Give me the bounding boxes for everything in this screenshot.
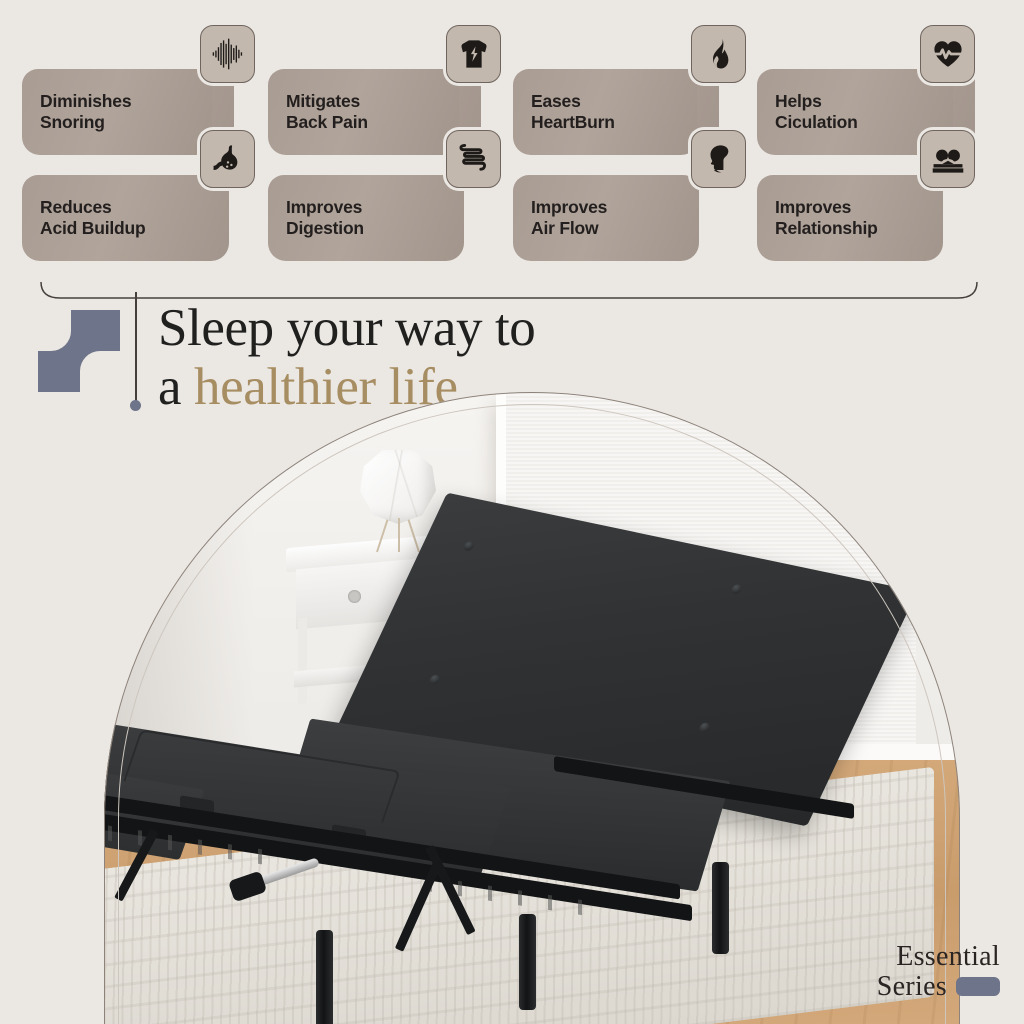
brand-line-2: Series — [877, 972, 947, 1002]
brand-lockup: Essential Series — [877, 942, 1000, 1002]
panel-bolt — [428, 674, 441, 685]
benefit-label: Helps Ciculation — [757, 91, 858, 134]
product-photo-arch — [104, 392, 960, 1024]
brand-line-2-row: Series — [877, 972, 1000, 1002]
benefits-grid: Diminishes Snoring — [0, 0, 1024, 260]
poster-canvas: Diminishes Snoring — [0, 0, 1024, 1024]
stomach-acid-icon — [200, 130, 255, 188]
heart-pulse-icon — [920, 25, 975, 83]
benefit-label: Improves Digestion — [268, 197, 364, 240]
flame-icon — [691, 25, 746, 83]
couple-in-bed-icon — [920, 130, 975, 188]
bed-leg — [519, 914, 536, 1010]
bed-leg — [712, 862, 729, 954]
panel-bolt — [462, 541, 475, 552]
benefit-label: Eases HeartBurn — [513, 91, 615, 134]
slate-corner-block-icon — [38, 310, 120, 392]
benefit-card-mitigates-back-pain[interactable]: Mitigates Back Pain — [268, 69, 461, 155]
benefit-label: Improves Relationship — [757, 197, 878, 240]
lamp-facets — [360, 450, 436, 524]
lamp-tripod-legs — [366, 516, 430, 552]
benefit-column-3: Eases HeartBurn Improves Air Flow — [513, 0, 763, 260]
head-breathing-icon — [691, 130, 746, 188]
benefit-card-reduces-acid-buildup[interactable]: Reduces Acid Buildup — [22, 175, 229, 261]
panel-bolt — [730, 584, 743, 595]
vertical-tick-line — [135, 292, 137, 404]
brand-line-1: Essential — [877, 942, 1000, 972]
benefit-column-1: Diminishes Snoring — [22, 0, 272, 260]
bedroom-scene — [104, 392, 960, 1024]
headline-line-1: Sleep your way to — [158, 300, 778, 357]
benefit-label: Diminishes Snoring — [22, 91, 131, 134]
intestine-icon — [446, 130, 501, 188]
benefit-card-improves-digestion[interactable]: Improves Digestion — [268, 175, 464, 261]
adjustable-bed-base — [104, 630, 960, 1024]
bed-leg — [316, 930, 333, 1024]
benefit-label: Reduces Acid Buildup — [22, 197, 146, 240]
benefit-card-eases-heartburn[interactable]: Eases HeartBurn — [513, 69, 699, 155]
drawer-knob-icon — [348, 590, 361, 603]
benefit-label: Mitigates Back Pain — [268, 91, 368, 134]
torso-spine-icon — [446, 25, 501, 83]
panel-bolt — [698, 722, 711, 733]
actuator-housing — [228, 871, 267, 903]
benefit-card-diminishes-snoring[interactable]: Diminishes Snoring — [22, 69, 214, 155]
benefit-column-2: Mitigates Back Pain Improves Digestion — [268, 0, 518, 260]
benefit-column-4: Helps Ciculation Improves Relationship — [757, 0, 1007, 260]
sound-wave-icon — [200, 25, 255, 83]
brand-chip-icon — [956, 977, 1000, 996]
benefit-card-improves-air-flow[interactable]: Improves Air Flow — [513, 175, 699, 261]
benefit-card-improves-relationship[interactable]: Improves Relationship — [757, 175, 943, 261]
benefit-label: Improves Air Flow — [513, 197, 607, 240]
